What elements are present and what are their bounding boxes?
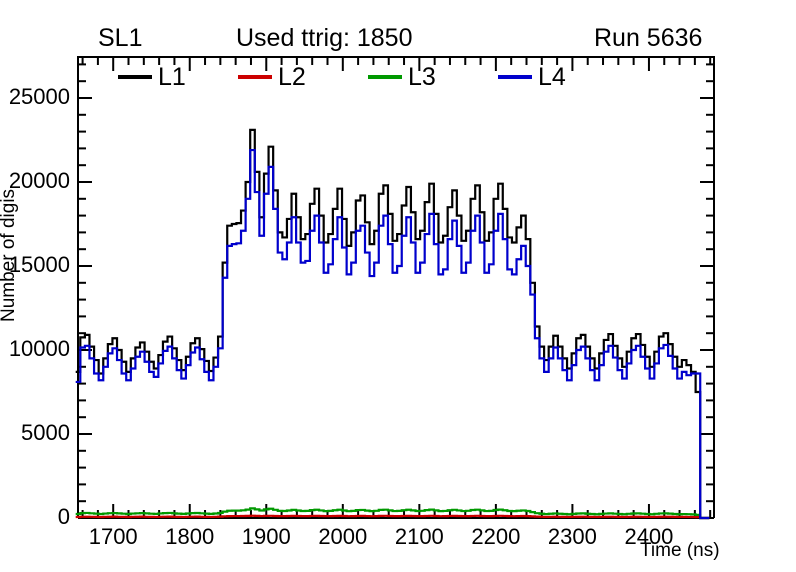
series-line-l4: [76, 150, 710, 518]
plot-canvas: SL1 Used ttrig: 1850 Run 5636 L1 L2 L3 L…: [0, 0, 796, 572]
data-series-group: [76, 130, 710, 518]
tick-marks: [78, 57, 714, 518]
series-line-l1: [76, 130, 710, 518]
x-tick-label: 2400: [604, 524, 694, 550]
axis-frame: [78, 57, 714, 518]
y-tick-label: 0: [0, 504, 70, 530]
y-tick-label: 5000: [0, 420, 70, 446]
plot-svg: [0, 0, 796, 572]
y-tick-label: 10000: [0, 336, 70, 362]
y-tick-label: 25000: [0, 84, 70, 110]
y-tick-label: 15000: [0, 252, 70, 278]
y-tick-label: 20000: [0, 168, 70, 194]
